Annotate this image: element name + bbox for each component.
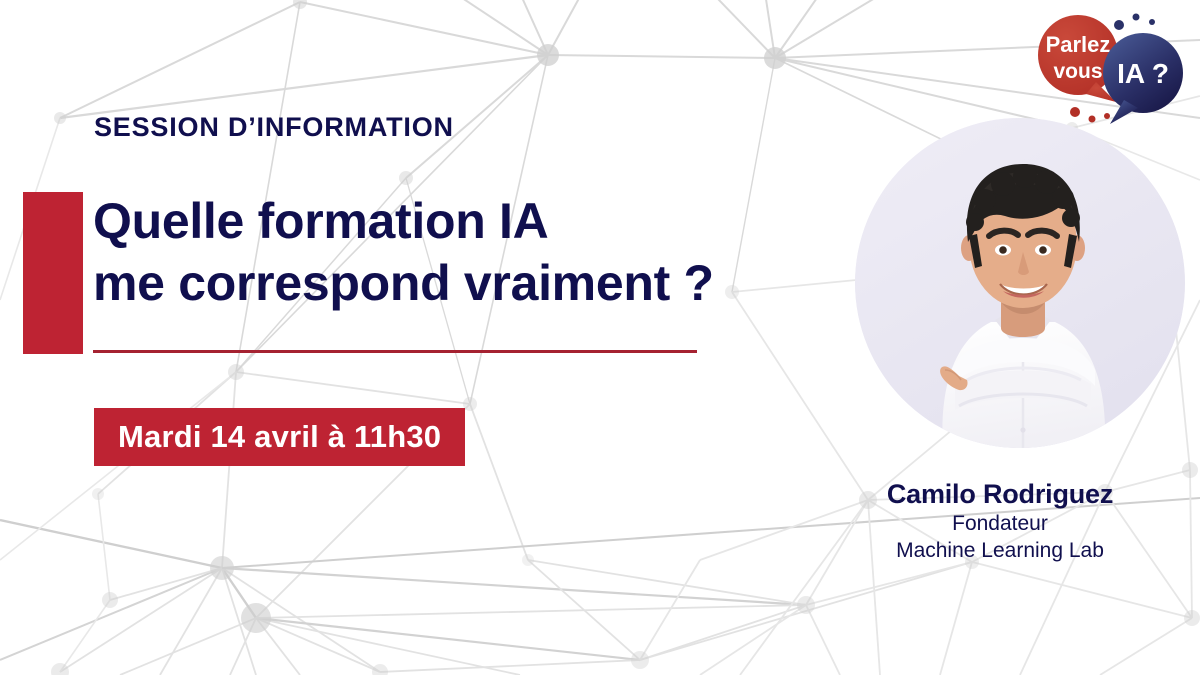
speaker-name: Camilo Rodriguez [830,478,1170,510]
promo-banner: SESSION D’INFORMATION Quelle formation I… [0,0,1200,675]
speaker-organization: Machine Learning Lab [830,537,1170,564]
session-kicker: SESSION D’INFORMATION [94,112,454,143]
headline-line-1: Quelle formation IA [93,190,714,252]
speaker-info: Camilo Rodriguez Fondateur Machine Learn… [830,478,1170,564]
red-accent-bar [23,192,83,354]
divider-rule [93,350,697,353]
date-badge: Mardi 14 avril à 11h30 [94,408,465,466]
speaker-role: Fondateur [830,510,1170,537]
parlez-vous-ia-logo-icon: Parlez vous IA ? [1012,8,1197,128]
brand-logo[interactable]: Parlez vous IA ? [1012,8,1197,128]
headline-line-2: me correspond vraiment ? [93,252,714,314]
speaker-photo-illustration [855,118,1185,448]
logo-blue-text: IA ? [1117,58,1169,89]
speech-bubble-blue: IA ? [1103,33,1183,124]
date-badge-label: Mardi 14 avril à 11h30 [118,419,441,455]
speaker-avatar [855,118,1185,448]
logo-red-line2: vous [1053,60,1102,83]
logo-red-line1: Parlez [1046,32,1111,57]
page-title: Quelle formation IA me correspond vraime… [93,190,714,314]
